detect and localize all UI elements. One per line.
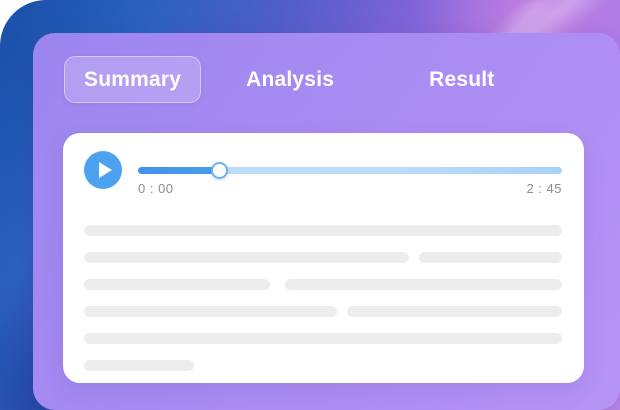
app-panel: Summary Analysis Result 0 : 00 2 : 45 bbox=[33, 33, 620, 410]
screenshot-root: Summary Analysis Result 0 : 00 2 : 45 bbox=[0, 0, 620, 410]
tab-bar: Summary Analysis Result bbox=[64, 56, 515, 103]
placeholder-row bbox=[84, 279, 562, 290]
placeholder-bar bbox=[84, 360, 194, 371]
placeholder-bar bbox=[84, 252, 409, 263]
tab-result[interactable]: Result bbox=[409, 56, 514, 103]
placeholder-bar bbox=[84, 333, 562, 344]
content-card: 0 : 00 2 : 45 bbox=[63, 133, 584, 383]
progress-thumb[interactable] bbox=[211, 162, 228, 179]
placeholder-bar bbox=[419, 252, 562, 263]
progress-slider[interactable] bbox=[138, 163, 562, 177]
tab-summary[interactable]: Summary bbox=[64, 56, 201, 103]
placeholder-row bbox=[84, 252, 562, 263]
current-time-label: 0 : 00 bbox=[138, 181, 174, 196]
placeholder-gap bbox=[337, 306, 347, 317]
progress-fill bbox=[138, 167, 219, 174]
total-time-label: 2 : 45 bbox=[526, 181, 562, 196]
placeholder-bar bbox=[84, 306, 337, 317]
placeholder-bar bbox=[347, 306, 562, 317]
placeholder-row bbox=[84, 306, 562, 317]
time-labels: 0 : 00 2 : 45 bbox=[138, 181, 562, 196]
placeholder-row bbox=[84, 360, 562, 371]
audio-player: 0 : 00 2 : 45 bbox=[84, 151, 562, 211]
play-button[interactable] bbox=[84, 151, 122, 189]
tab-analysis[interactable]: Analysis bbox=[226, 56, 354, 103]
placeholder-row bbox=[84, 225, 562, 236]
placeholder-bar bbox=[285, 279, 562, 290]
placeholder-bar bbox=[84, 225, 562, 236]
placeholder-row bbox=[84, 333, 562, 344]
placeholder-gap bbox=[270, 279, 284, 290]
play-triangle-icon bbox=[99, 162, 112, 178]
placeholder-gap bbox=[409, 252, 419, 263]
transcript-placeholder bbox=[84, 225, 562, 371]
placeholder-bar bbox=[84, 279, 270, 290]
